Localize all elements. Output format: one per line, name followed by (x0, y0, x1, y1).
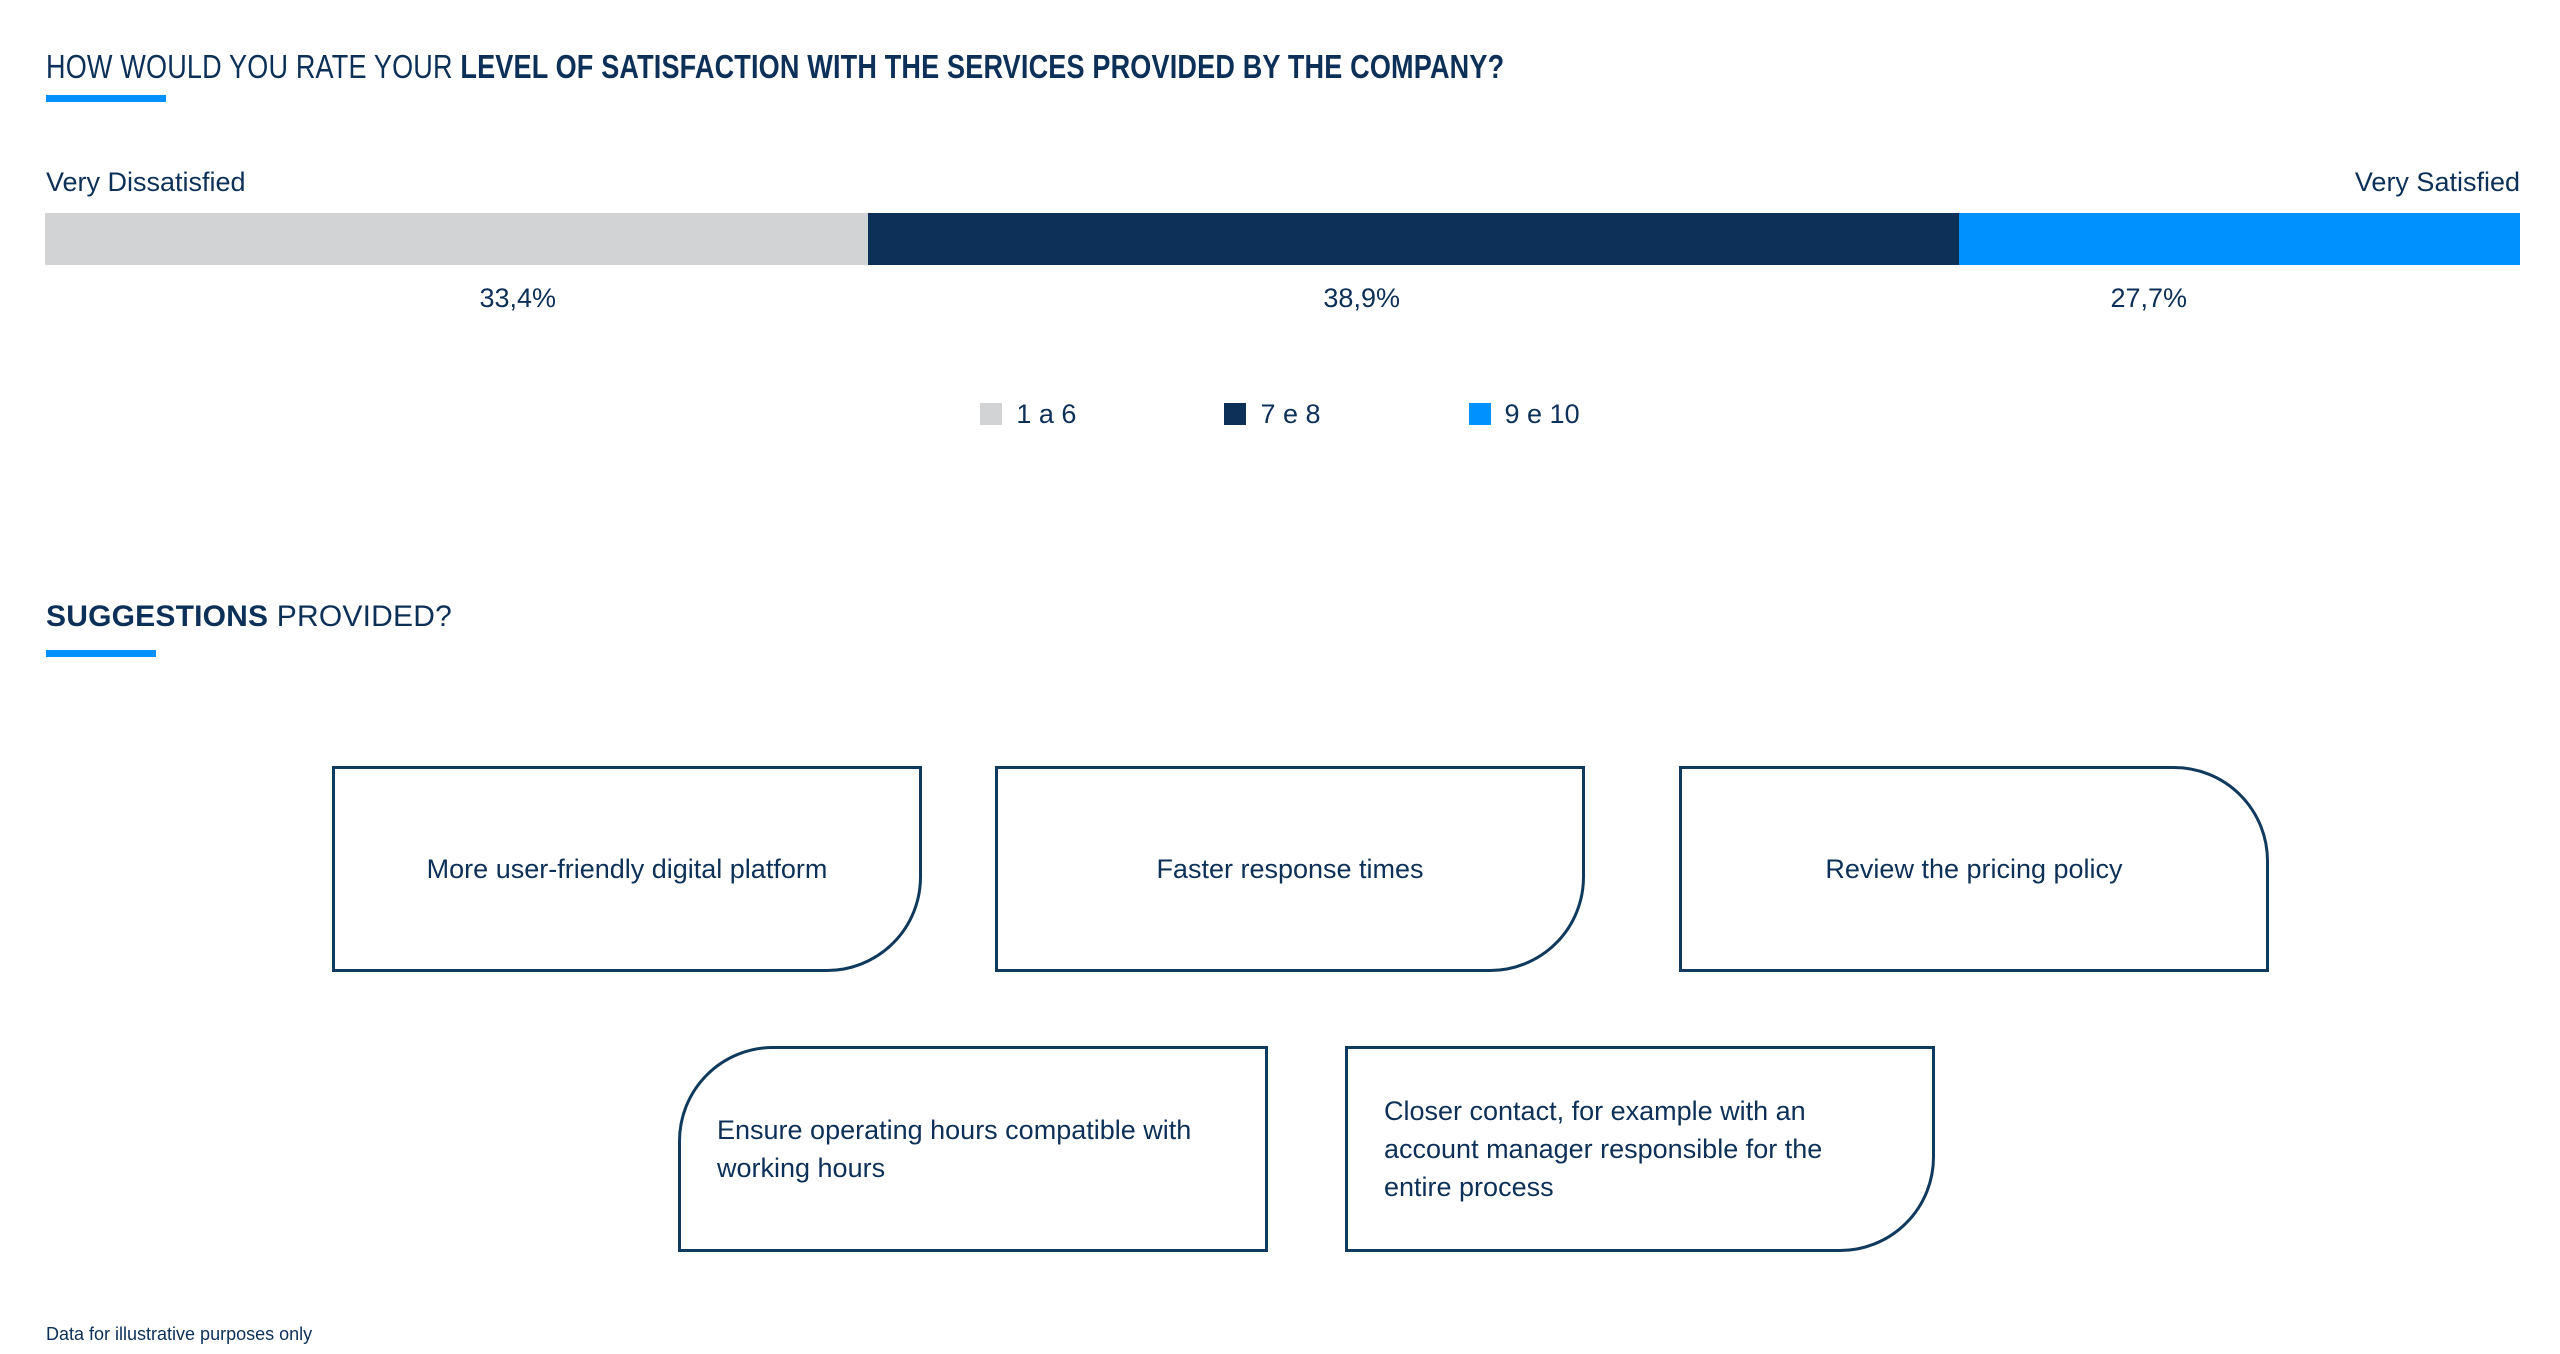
satisfaction-title: HOW WOULD YOU RATE YOUR LEVEL OF SATISFA… (46, 47, 1504, 87)
legend-item-1-a-6[interactable]: 1 a 6 (980, 397, 1076, 431)
suggestion-box-2[interactable]: Faster response times (995, 766, 1585, 972)
suggestions-title-accent-rule (46, 650, 156, 657)
suggestion-box-3[interactable]: Review the pricing policy (1679, 766, 2269, 972)
legend-item-7-e-8[interactable]: 7 e 8 (1224, 397, 1320, 431)
scale-label-very-dissatisfied: Very Dissatisfied (46, 165, 246, 199)
satisfaction-title-light: HOW WOULD YOU RATE YOUR (46, 48, 460, 85)
suggestions-title-light: PROVIDED? (268, 600, 452, 633)
legend-label-7-e-8: 7 e 8 (1260, 397, 1320, 431)
satisfaction-title-accent-rule (46, 95, 166, 102)
suggestion-box-5[interactable]: Closer contact, for example with an acco… (1345, 1046, 1935, 1252)
bar-segment-1-a-6 (45, 213, 868, 265)
suggestion-box-1[interactable]: More user-friendly digital platform (332, 766, 922, 972)
satisfaction-title-bold: LEVEL OF SATISFACTION WITH THE SERVICES … (460, 48, 1504, 85)
bar-value-label-7-e-8: 38,9% (1323, 278, 1400, 318)
chart-legend: 1 a 67 e 89 e 10 (0, 397, 2560, 431)
footnote-disclaimer: Data for illustrative purposes only (46, 1322, 312, 1346)
suggestion-box-4[interactable]: Ensure operating hours compatible with w… (678, 1046, 1268, 1252)
satisfaction-bar-value-labels: 33,4%38,9%27,7% (45, 278, 2520, 318)
legend-label-1-a-6: 1 a 6 (1016, 397, 1076, 431)
bar-segment-9-e-10 (1959, 213, 2520, 265)
suggestion-box-5-text: Closer contact, for example with an acco… (1348, 1092, 1932, 1206)
legend-swatch-icon-9-e-10 (1469, 403, 1491, 425)
suggestions-title: SUGGESTIONS PROVIDED? (46, 598, 452, 636)
suggestion-box-1-text: More user-friendly digital platform (335, 850, 919, 888)
legend-label-9-e-10: 9 e 10 (1505, 397, 1580, 431)
legend-swatch-icon-7-e-8 (1224, 403, 1246, 425)
satisfaction-stacked-bar (45, 213, 2520, 265)
suggestion-box-2-text: Faster response times (998, 850, 1582, 888)
slide-canvas: HOW WOULD YOU RATE YOUR LEVEL OF SATISFA… (0, 0, 2560, 1354)
bar-value-label-1-a-6: 33,4% (479, 278, 556, 318)
suggestion-box-3-text: Review the pricing policy (1682, 850, 2266, 888)
suggestions-title-bold: SUGGESTIONS (46, 600, 268, 633)
suggestion-box-4-text: Ensure operating hours compatible with w… (681, 1111, 1265, 1187)
scale-label-very-satisfied: Very Satisfied (2355, 165, 2520, 199)
legend-swatch-icon-1-a-6 (980, 403, 1002, 425)
bar-segment-7-e-8 (868, 213, 1959, 265)
legend-item-9-e-10[interactable]: 9 e 10 (1469, 397, 1580, 431)
bar-value-label-9-e-10: 27,7% (2110, 278, 2187, 318)
